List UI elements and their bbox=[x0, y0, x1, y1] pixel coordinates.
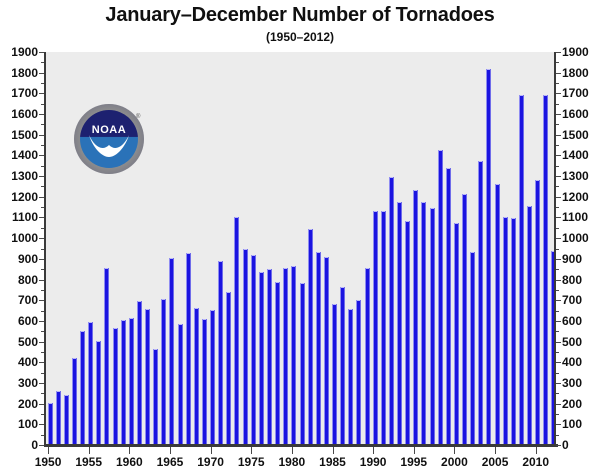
x-axis-tick-label: 1955 bbox=[75, 455, 102, 469]
y-axis-tick bbox=[39, 383, 44, 384]
y-axis-minor-tick bbox=[41, 145, 44, 146]
y-axis-minor-tick bbox=[41, 104, 44, 105]
chart-subtitle: (1950–2012) bbox=[0, 30, 600, 44]
y-axis-tick bbox=[556, 197, 561, 198]
bar bbox=[267, 269, 272, 445]
y-axis-tick bbox=[39, 238, 44, 239]
y-axis-tick bbox=[39, 362, 44, 363]
y-axis-minor-tick bbox=[556, 373, 559, 374]
y-axis-minor-tick bbox=[556, 124, 559, 125]
bar bbox=[438, 150, 443, 445]
bar bbox=[218, 261, 223, 445]
y-axis-tick bbox=[556, 135, 561, 136]
y-axis-minor-tick bbox=[41, 352, 44, 353]
noaa-trademark: ® bbox=[136, 114, 140, 120]
y-axis-tick-label-left: 1200 bbox=[2, 191, 38, 203]
bar bbox=[194, 308, 199, 445]
y-axis-minor-tick bbox=[41, 124, 44, 125]
y-axis-tick-label-left: 1400 bbox=[2, 149, 38, 161]
y-axis-tick-label-left: 1900 bbox=[2, 46, 38, 58]
x-axis-tick bbox=[454, 447, 455, 454]
y-axis-minor-tick bbox=[41, 83, 44, 84]
y-axis-tick bbox=[556, 383, 561, 384]
y-axis-minor-tick bbox=[556, 393, 559, 394]
bar bbox=[56, 391, 61, 445]
y-axis-tick-label-right: 300 bbox=[562, 377, 598, 389]
y-axis-tick-label-left: 0 bbox=[2, 439, 38, 451]
y-axis-minor-tick bbox=[556, 104, 559, 105]
y-axis-tick-label-left: 1800 bbox=[2, 67, 38, 79]
y-axis-tick bbox=[556, 362, 561, 363]
x-axis-tick-label: 1980 bbox=[279, 455, 306, 469]
bar bbox=[145, 309, 150, 445]
x-axis-tick bbox=[292, 447, 293, 454]
y-axis-tick bbox=[556, 321, 561, 322]
y-axis-minor-tick bbox=[556, 249, 559, 250]
bar bbox=[470, 252, 475, 445]
bar bbox=[291, 266, 296, 445]
y-axis-tick-label-left: 700 bbox=[2, 294, 38, 306]
y-axis-tick-label-left: 800 bbox=[2, 274, 38, 286]
x-axis-tick-label: 2010 bbox=[522, 455, 549, 469]
y-axis-tick-label-left: 100 bbox=[2, 418, 38, 430]
y-axis-minor-tick bbox=[41, 249, 44, 250]
y-axis-tick-label-right: 1500 bbox=[562, 129, 598, 141]
bar bbox=[503, 217, 508, 445]
y-axis-tick bbox=[556, 404, 561, 405]
y-axis-tick-label-right: 1200 bbox=[562, 191, 598, 203]
y-axis-minor-tick bbox=[41, 331, 44, 332]
x-axis-tick-label: 1990 bbox=[360, 455, 387, 469]
y-axis-minor-tick bbox=[556, 331, 559, 332]
y-axis-tick bbox=[556, 93, 561, 94]
bar bbox=[178, 324, 183, 445]
y-axis-tick bbox=[39, 114, 44, 115]
bar bbox=[259, 272, 264, 445]
y-axis-tick-label-left: 1500 bbox=[2, 129, 38, 141]
bar bbox=[72, 358, 77, 445]
x-axis-tick bbox=[536, 447, 537, 454]
x-axis-tick-label: 1975 bbox=[238, 455, 265, 469]
y-axis-minor-tick bbox=[556, 186, 559, 187]
bar bbox=[283, 268, 288, 445]
y-axis-tick-label-right: 200 bbox=[562, 398, 598, 410]
y-axis-tick bbox=[556, 445, 561, 446]
y-axis-tick-label-left: 500 bbox=[2, 336, 38, 348]
bar bbox=[495, 184, 500, 445]
y-axis-tick-label-right: 700 bbox=[562, 294, 598, 306]
y-axis-tick bbox=[39, 135, 44, 136]
bar bbox=[316, 252, 321, 445]
y-axis-tick bbox=[556, 424, 561, 425]
bar bbox=[251, 255, 256, 445]
bar bbox=[324, 257, 329, 445]
tornado-chart-page: January–December Number of Tornadoes (19… bbox=[0, 0, 600, 472]
y-axis-minor-tick bbox=[41, 207, 44, 208]
y-axis-tick-label-left: 1300 bbox=[2, 170, 38, 182]
y-axis-minor-tick bbox=[41, 414, 44, 415]
y-axis-tick bbox=[556, 155, 561, 156]
bar bbox=[169, 258, 174, 445]
x-axis-tick bbox=[89, 447, 90, 454]
bar bbox=[64, 395, 69, 445]
y-axis-tick bbox=[39, 73, 44, 74]
x-axis-tick-label: 2005 bbox=[482, 455, 509, 469]
bar bbox=[454, 223, 459, 445]
bar bbox=[121, 320, 126, 445]
y-axis-tick bbox=[556, 114, 561, 115]
bar bbox=[210, 310, 215, 445]
bar bbox=[413, 190, 418, 445]
bar bbox=[243, 249, 248, 445]
x-axis-tick bbox=[170, 447, 171, 454]
noaa-logo-disc: NOAA bbox=[80, 110, 138, 168]
y-axis-tick bbox=[556, 259, 561, 260]
y-axis-tick-label-left: 600 bbox=[2, 315, 38, 327]
x-axis-tick-label: 1995 bbox=[400, 455, 427, 469]
y-axis-tick-label-right: 800 bbox=[562, 274, 598, 286]
bar bbox=[340, 287, 345, 445]
y-axis-tick-label-left: 900 bbox=[2, 253, 38, 265]
y-axis-tick-label-left: 300 bbox=[2, 377, 38, 389]
bar bbox=[519, 95, 524, 445]
y-axis-tick-label-right: 100 bbox=[562, 418, 598, 430]
bar bbox=[543, 95, 548, 445]
bar bbox=[365, 268, 370, 445]
bar bbox=[300, 283, 305, 445]
bar bbox=[308, 229, 313, 445]
x-axis-tick-label: 2000 bbox=[441, 455, 468, 469]
y-axis-tick-label-right: 0 bbox=[562, 439, 598, 451]
bar bbox=[153, 349, 158, 445]
y-axis-minor-tick bbox=[41, 62, 44, 63]
y-axis-tick bbox=[556, 280, 561, 281]
x-axis-tick-label: 1950 bbox=[35, 455, 62, 469]
bar bbox=[129, 318, 134, 445]
y-axis-minor-tick bbox=[41, 373, 44, 374]
y-axis-minor-tick bbox=[556, 166, 559, 167]
y-axis-minor-tick bbox=[41, 435, 44, 436]
bar bbox=[421, 202, 426, 445]
y-axis-tick-label-right: 1700 bbox=[562, 87, 598, 99]
y-axis-tick-label-right: 1600 bbox=[562, 108, 598, 120]
bar bbox=[202, 319, 207, 445]
y-axis-right bbox=[554, 52, 556, 445]
bar bbox=[486, 69, 491, 445]
y-axis-tick-label-left: 1100 bbox=[2, 211, 38, 223]
x-axis-tick bbox=[414, 447, 415, 454]
x-axis-tick bbox=[373, 447, 374, 454]
bar bbox=[356, 300, 361, 445]
bar bbox=[527, 206, 532, 445]
bar bbox=[397, 202, 402, 445]
bar bbox=[478, 161, 483, 445]
y-axis-tick bbox=[39, 404, 44, 405]
y-axis-tick-label-left: 1600 bbox=[2, 108, 38, 120]
y-axis-tick bbox=[39, 445, 44, 446]
y-axis-minor-tick bbox=[556, 83, 559, 84]
y-axis-minor-tick bbox=[41, 393, 44, 394]
y-axis-labels-left: 0100200300400500600700800900100011001200… bbox=[2, 52, 38, 445]
y-axis-minor-tick bbox=[41, 166, 44, 167]
bar bbox=[535, 180, 540, 445]
bar bbox=[405, 221, 410, 445]
y-axis-tick-label-right: 1800 bbox=[562, 67, 598, 79]
y-axis-minor-tick bbox=[556, 228, 559, 229]
bar bbox=[234, 217, 239, 445]
y-axis-tick bbox=[556, 342, 561, 343]
bar bbox=[430, 208, 435, 445]
y-axis-minor-tick bbox=[556, 435, 559, 436]
y-axis-minor-tick bbox=[41, 186, 44, 187]
y-axis-minor-tick bbox=[556, 290, 559, 291]
y-axis-minor-tick bbox=[556, 62, 559, 63]
y-axis-tick-label-right: 900 bbox=[562, 253, 598, 265]
y-axis-tick-label-left: 200 bbox=[2, 398, 38, 410]
y-axis-left bbox=[44, 52, 46, 445]
chart-title: January–December Number of Tornadoes bbox=[0, 4, 600, 27]
y-axis-tick-label-right: 600 bbox=[562, 315, 598, 327]
y-axis-tick bbox=[39, 217, 44, 218]
bar bbox=[332, 304, 337, 445]
y-axis-tick-label-right: 1000 bbox=[562, 232, 598, 244]
y-axis-minor-tick bbox=[41, 290, 44, 291]
bar bbox=[381, 211, 386, 445]
y-axis-tick bbox=[556, 238, 561, 239]
x-axis-tick bbox=[48, 447, 49, 454]
x-axis-line bbox=[44, 444, 558, 447]
y-axis-tick bbox=[39, 342, 44, 343]
bar bbox=[88, 322, 93, 445]
y-axis-tick-label-left: 1700 bbox=[2, 87, 38, 99]
y-axis-tick bbox=[556, 176, 561, 177]
bar bbox=[113, 328, 118, 445]
y-axis-tick bbox=[39, 93, 44, 94]
y-axis-minor-tick bbox=[41, 311, 44, 312]
y-axis-tick-label-right: 1100 bbox=[562, 211, 598, 223]
y-axis-tick bbox=[39, 155, 44, 156]
bar bbox=[275, 282, 280, 445]
y-axis-tick bbox=[39, 52, 44, 53]
y-axis-tick bbox=[39, 280, 44, 281]
y-axis-tick-label-right: 1300 bbox=[562, 170, 598, 182]
bar bbox=[389, 177, 394, 445]
y-axis-minor-tick bbox=[41, 269, 44, 270]
x-axis-tick bbox=[211, 447, 212, 454]
y-axis-tick bbox=[39, 300, 44, 301]
y-axis-minor-tick bbox=[41, 228, 44, 229]
y-axis-tick-label-right: 500 bbox=[562, 336, 598, 348]
y-axis-tick-label-left: 1000 bbox=[2, 232, 38, 244]
y-axis-minor-tick bbox=[556, 414, 559, 415]
y-axis-tick bbox=[556, 300, 561, 301]
x-axis-tick bbox=[251, 447, 252, 454]
bar bbox=[104, 268, 109, 445]
y-axis-tick bbox=[39, 259, 44, 260]
y-axis-tick bbox=[39, 424, 44, 425]
bar bbox=[348, 309, 353, 445]
y-axis-minor-tick bbox=[556, 269, 559, 270]
bar bbox=[446, 168, 451, 445]
y-axis-tick bbox=[39, 176, 44, 177]
y-axis-tick bbox=[556, 217, 561, 218]
bar bbox=[186, 253, 191, 445]
bar bbox=[373, 211, 378, 445]
x-axis-tick-label: 1960 bbox=[116, 455, 143, 469]
x-axis-tick bbox=[333, 447, 334, 454]
bar bbox=[96, 341, 101, 445]
y-axis-minor-tick bbox=[556, 311, 559, 312]
bar bbox=[161, 299, 166, 445]
x-axis-tick-label: 1970 bbox=[197, 455, 224, 469]
y-axis-tick-label-left: 400 bbox=[2, 356, 38, 368]
bar bbox=[462, 194, 467, 445]
y-axis-tick bbox=[556, 73, 561, 74]
x-axis-tick bbox=[129, 447, 130, 454]
y-axis-minor-tick bbox=[556, 207, 559, 208]
bar bbox=[80, 331, 85, 445]
noaa-logo: NOAA ® bbox=[74, 104, 144, 174]
x-axis-tick bbox=[495, 447, 496, 454]
bar bbox=[137, 301, 142, 445]
y-axis-labels-right: 0100200300400500600700800900100011001200… bbox=[562, 52, 598, 445]
y-axis-tick bbox=[556, 52, 561, 53]
y-axis-minor-tick bbox=[556, 145, 559, 146]
y-axis-tick bbox=[39, 321, 44, 322]
x-axis-tick-label: 1965 bbox=[157, 455, 184, 469]
y-axis-tick-label-right: 1900 bbox=[562, 46, 598, 58]
y-axis-tick-label-right: 400 bbox=[562, 356, 598, 368]
seagull-icon bbox=[88, 134, 130, 158]
y-axis-tick-label-right: 1400 bbox=[562, 149, 598, 161]
bar bbox=[226, 292, 231, 445]
y-axis-tick bbox=[39, 197, 44, 198]
bar bbox=[511, 218, 516, 445]
bar bbox=[48, 403, 53, 445]
x-axis-tick-label: 1985 bbox=[319, 455, 346, 469]
y-axis-minor-tick bbox=[556, 352, 559, 353]
